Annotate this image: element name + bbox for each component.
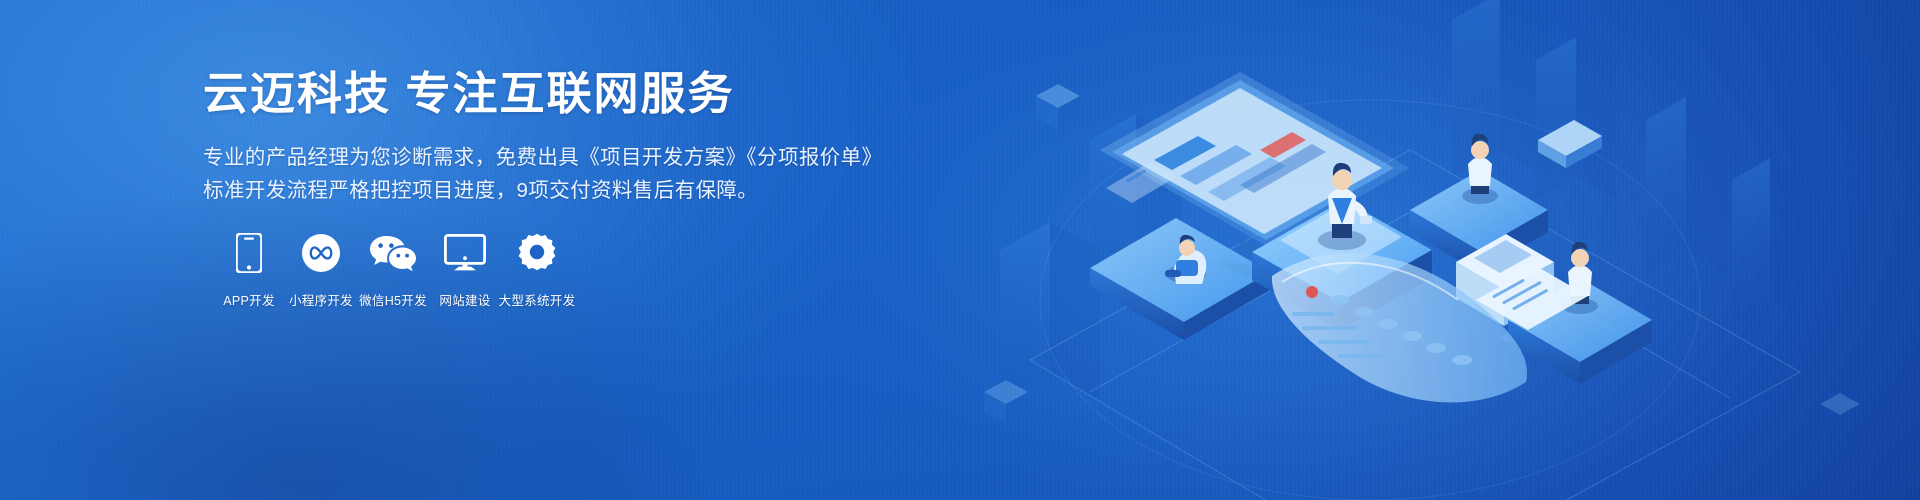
gear-icon [517,232,557,274]
subtitle-line-1: 专业的产品经理为您诊断需求，免费出具《项目开发方案》《分项报价单》 [203,141,903,174]
service-item-app[interactable]: APP开发 [213,232,285,309]
service-label: 网站建设 [439,290,490,309]
service-item-system[interactable]: 大型系统开发 [501,232,573,309]
mobile-phone-icon [236,232,262,274]
hero-banner: 云迈科技 专注互联网服务 专业的产品经理为您诊断需求，免费出具《项目开发方案》《… [0,0,1920,500]
wechat-icon [369,232,417,274]
mini-program-icon [301,232,341,274]
hero-subtitle: 专业的产品经理为您诊断需求，免费出具《项目开发方案》《分项报价单》 标准开发流程… [203,141,903,207]
page-title: 云迈科技 专注互联网服务 [203,66,903,123]
service-item-miniprogram[interactable]: 小程序开发 [285,232,357,309]
service-label: 大型系统开发 [499,290,576,309]
service-item-wechat[interactable]: 微信H5开发 [357,232,429,309]
service-list: APP开发 小程序开发 [203,232,573,309]
subtitle-line-2: 标准开发流程严格把控项目进度，9项交付资料售后有保障。 [203,174,903,207]
service-item-website[interactable]: 网站建设 [429,232,501,309]
monitor-icon [444,232,486,274]
service-label: 小程序开发 [289,290,353,309]
service-label: 微信H5开发 [359,290,427,309]
hero-illustration [940,0,1920,500]
service-label: APP开发 [223,290,275,309]
hero-copy: 云迈科技 专注互联网服务 专业的产品经理为您诊断需求，免费出具《项目开发方案》《… [203,66,903,207]
